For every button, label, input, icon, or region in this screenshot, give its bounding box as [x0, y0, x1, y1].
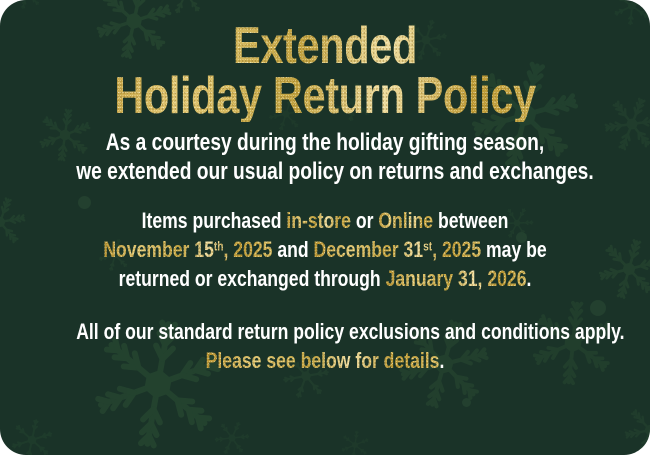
footer-line-1: All of our standard return policy exclus… [76, 318, 574, 347]
dates-line2-mid: and [272, 237, 313, 262]
footer-line2-post: . [439, 348, 444, 373]
end-date-ordinal: st [423, 238, 432, 253]
dates-line-1: Items purchased in-store or Online betwe… [76, 207, 574, 236]
end-date: December 31st, 2025 [314, 237, 482, 262]
end-date-text: December 31 [314, 237, 424, 262]
footer-line-2: Please see below for details. [76, 347, 574, 376]
subtitle-line-1: As a courtesy during the holiday gifting… [76, 128, 574, 157]
subtitle-line-2: we extended our usual policy on returns … [76, 157, 574, 186]
dates-line2-post: may be [481, 237, 547, 262]
start-date-ordinal: th [214, 238, 224, 253]
dates-line3-pre: returned or exchanged through [119, 266, 386, 291]
dates-line-3: returned or exchanged through January 31… [76, 265, 574, 294]
dates-line3-post: . [526, 266, 531, 291]
card-content: Extended Holiday Return Policy As a cour… [0, 0, 650, 455]
dates-paragraph: Items purchased in-store or Online betwe… [76, 207, 574, 293]
page-title: Extended Holiday Return Policy [76, 22, 574, 122]
dates-line-2: November 15th, 2025 and December 31st, 2… [76, 236, 574, 265]
holiday-return-policy-card: Extended Holiday Return Policy As a cour… [0, 0, 650, 455]
title-line-1: Extended [76, 22, 574, 72]
see-below-note: Please see below for details [206, 348, 440, 373]
channel-online: Online [378, 208, 433, 233]
dates-line1-post: between [433, 208, 508, 233]
dates-line1-mid: or [351, 208, 378, 233]
title-line-2: Holiday Return Policy [76, 72, 574, 122]
channel-in-store: in-store [286, 208, 351, 233]
start-date-year: , 2025 [224, 237, 273, 262]
end-date-year: , 2025 [432, 237, 481, 262]
return-deadline-date: January 31, 2026 [386, 266, 527, 291]
dates-line1-pre: Items purchased [142, 208, 287, 233]
subtitle: As a courtesy during the holiday gifting… [76, 128, 574, 187]
start-date: November 15th, 2025 [103, 237, 272, 262]
footer-paragraph: All of our standard return policy exclus… [76, 318, 574, 375]
start-date-text: November 15 [103, 237, 214, 262]
